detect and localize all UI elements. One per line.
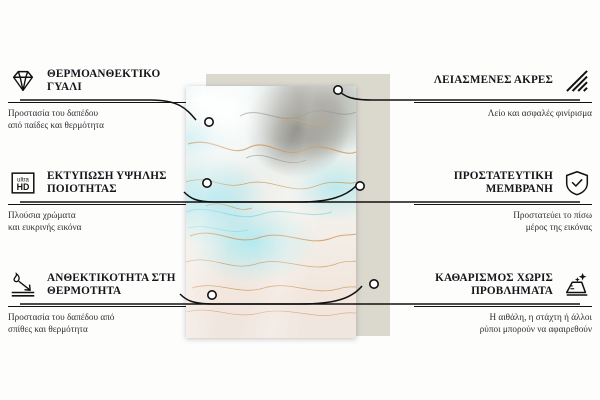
feature-description: Προστασία του δαπέδου απόσπίθες και θερμ… — [8, 312, 186, 335]
feature-heat-resistant-glass: ΘΕΡΜΟΑΝΘΕΚΤΙΚΟ ΓΥΑΛΙ Προστασία του δαπέδ… — [8, 64, 186, 131]
svg-text:HD: HD — [17, 182, 30, 192]
feature-title: ΚΑΘΑΡΙΣΜΟΣ ΧΩΡΙΣ ΠΡΟΒΛΗΜΑΤΑ — [414, 272, 553, 299]
feature-description: Πλούσια χρώματακαι ευκρινής εικόνα — [8, 210, 186, 233]
feature-polished-edges: ΛΕΙΑΣΜΕΝΕΣ ΑΚΡΕΣ Λείο και ασφαλές φινίρι… — [414, 64, 592, 120]
feature-header: ultra HD ΕΚΤΥΠΩΣΗ ΥΨΗΛΗΣ ΠΟΙΟΤΗΤΑΣ — [8, 166, 186, 200]
feature-header: ΛΕΙΑΣΜΕΝΕΣ ΑΚΡΕΣ — [414, 64, 592, 98]
feature-header: ΠΡΟΣΤΑΤΕΥΤΙΚΗ ΜΕΜΒΡΑΝΗ — [414, 166, 592, 200]
feature-description: Προστατεύει το πίσωμέρος της εικόνας — [414, 210, 592, 233]
heat-resistance-icon — [8, 270, 38, 300]
feature-high-quality-print: ultra HD ΕΚΤΥΠΩΣΗ ΥΨΗΛΗΣ ΠΟΙΟΤΗΤΑΣ Πλούσ… — [8, 166, 186, 233]
divider — [8, 204, 186, 205]
divider — [414, 204, 592, 205]
glass-glint-highlight — [186, 86, 226, 124]
divider — [8, 102, 186, 103]
shield-check-icon — [562, 168, 592, 198]
sparkle-clean-icon — [562, 270, 592, 300]
feature-header: ΑΝΘΕΚΤΙΚΟΤΗΤΑ ΣΤΗ ΘΕΡΜΟΤΗΤΑ — [8, 268, 186, 302]
product-artwork-panel — [186, 86, 356, 338]
feature-heat-durability: ΑΝΘΕΚΤΙΚΟΤΗΤΑ ΣΤΗ ΘΕΡΜΟΤΗΤΑ Προστασία το… — [8, 268, 186, 335]
feature-description: Λείο και ασφαλές φινίρισμα — [414, 108, 592, 120]
feature-description: Προστασία του δαπέδουαπό παίδες και θερμ… — [8, 108, 186, 131]
marble-artwork-image — [186, 86, 356, 338]
divider — [414, 102, 592, 103]
feature-description: Η αιθάλη, η στάχτη ή άλλοιρύποι μπορούν … — [414, 312, 592, 335]
ultra-hd-icon: ultra HD — [8, 168, 38, 198]
feature-easy-cleaning: ΚΑΘΑΡΙΣΜΟΣ ΧΩΡΙΣ ΠΡΟΒΛΗΜΑΤΑ Η αιθάλη, η … — [414, 268, 592, 335]
divider — [8, 306, 186, 307]
diamond-icon — [8, 66, 38, 96]
feature-title: ΘΕΡΜΟΑΝΘΕΚΤΙΚΟ ΓΥΑΛΙ — [47, 68, 186, 95]
feature-protective-membrane: ΠΡΟΣΤΑΤΕΥΤΙΚΗ ΜΕΜΒΡΑΝΗ Προστατεύει το πί… — [414, 166, 592, 233]
polished-edges-icon — [562, 66, 592, 96]
feature-title: ΛΕΙΑΣΜΕΝΕΣ ΑΚΡΕΣ — [434, 74, 553, 87]
feature-header: ΚΑΘΑΡΙΣΜΟΣ ΧΩΡΙΣ ΠΡΟΒΛΗΜΑΤΑ — [414, 268, 592, 302]
feature-header: ΘΕΡΜΟΑΝΘΕΚΤΙΚΟ ΓΥΑΛΙ — [8, 64, 186, 98]
feature-title: ΠΡΟΣΤΑΤΕΥΤΙΚΗ ΜΕΜΒΡΑΝΗ — [414, 170, 553, 197]
feature-title: ΑΝΘΕΚΤΙΚΟΤΗΤΑ ΣΤΗ ΘΕΡΜΟΤΗΤΑ — [47, 272, 186, 299]
feature-title: ΕΚΤΥΠΩΣΗ ΥΨΗΛΗΣ ΠΟΙΟΤΗΤΑΣ — [47, 170, 186, 197]
divider — [414, 306, 592, 307]
infographic-canvas: ΘΕΡΜΟΑΝΘΕΚΤΙΚΟ ΓΥΑΛΙ Προστασία του δαπέδ… — [0, 0, 600, 400]
